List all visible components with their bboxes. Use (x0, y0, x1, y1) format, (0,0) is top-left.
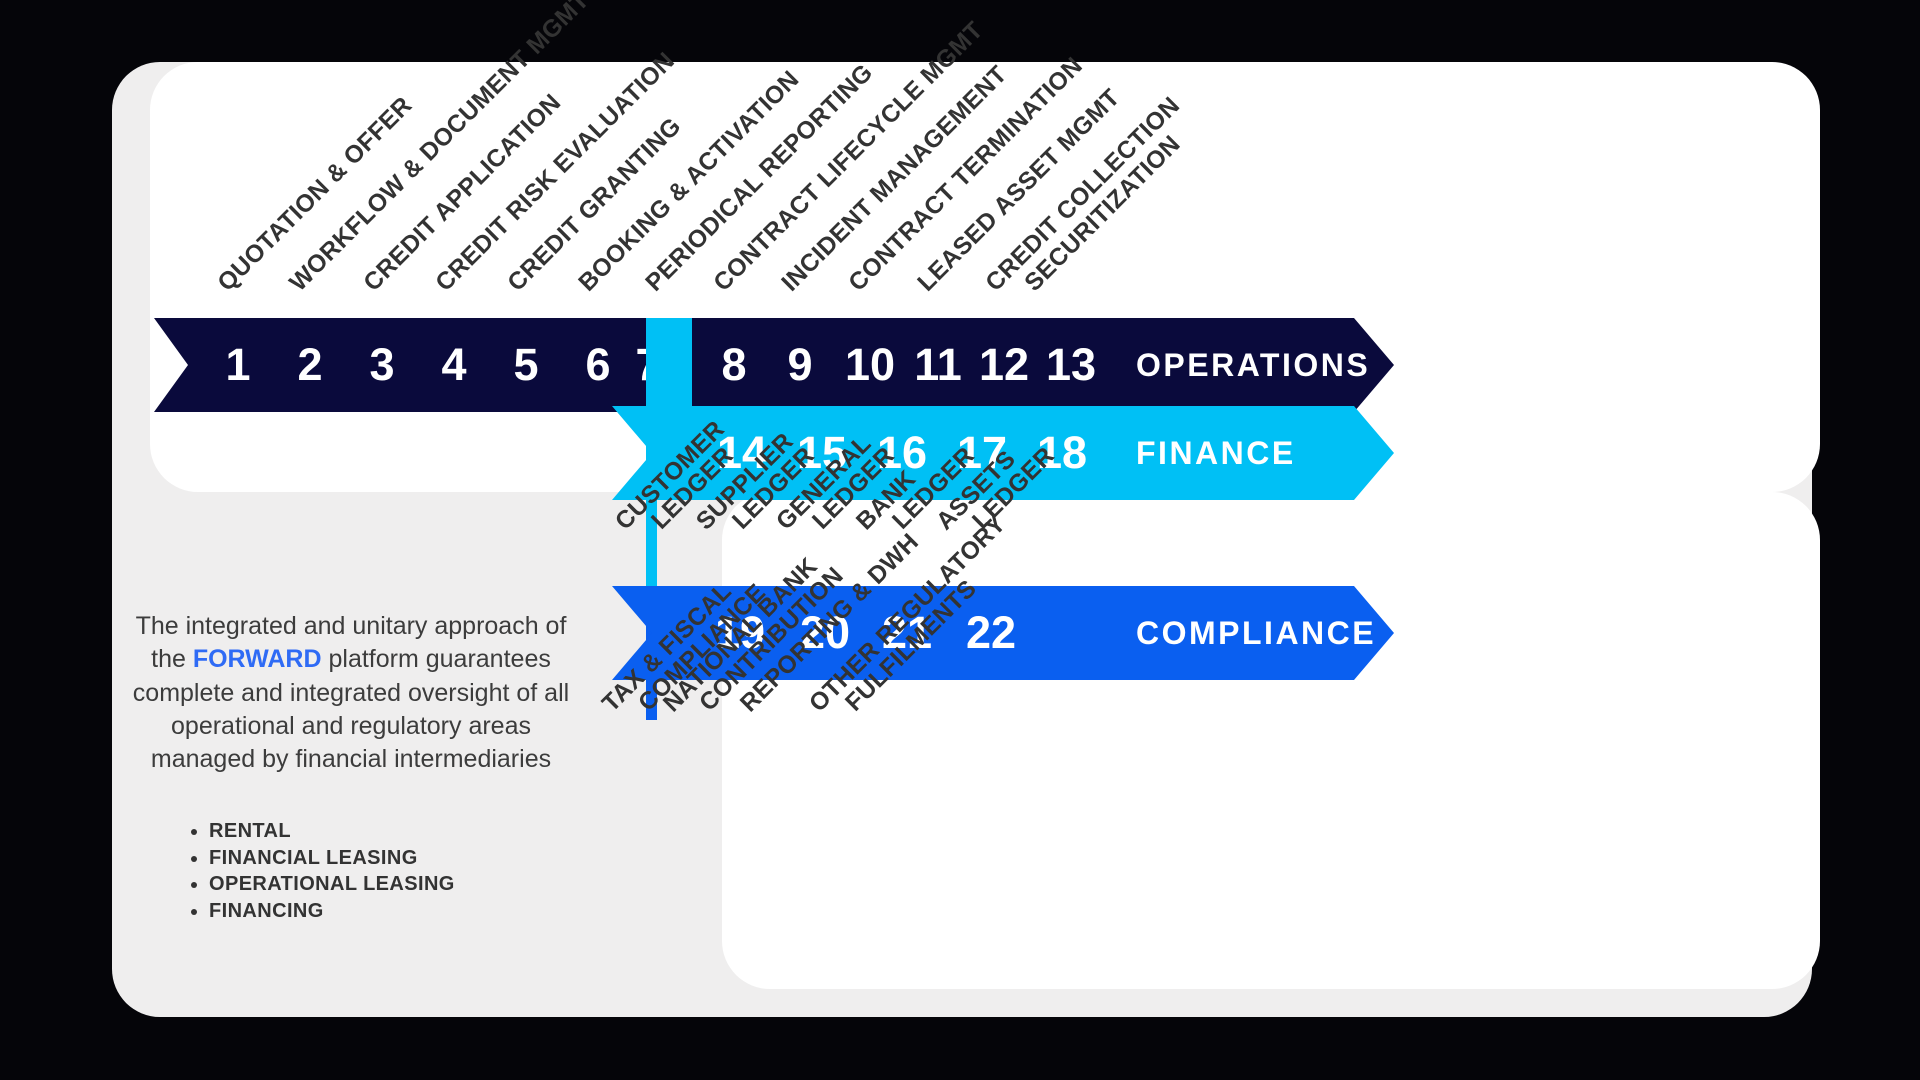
operations-title: OPERATIONS (1136, 318, 1370, 412)
band-number-4[interactable]: 4 (425, 318, 483, 412)
band-number-13[interactable]: 13 (1042, 318, 1100, 412)
product-list-item: FINANCIAL LEASING (209, 847, 605, 870)
description-text: The integrated and unitary approach of t… (128, 610, 574, 776)
product-list-item: RENTAL (209, 820, 605, 843)
band-operations[interactable]: 12345678910111213 OPERATIONS (154, 318, 1394, 412)
band-number-5[interactable]: 5 (497, 318, 555, 412)
band-number-3[interactable]: 3 (353, 318, 411, 412)
product-list: RENTALFINANCIAL LEASINGOPERATIONAL LEASI… (185, 820, 605, 926)
band-number-10[interactable]: 10 (841, 318, 899, 412)
band-number-1[interactable]: 1 (209, 318, 267, 412)
highlight-cell-7 (646, 318, 692, 412)
band-number-8[interactable]: 8 (705, 318, 763, 412)
infographic-stage: QUOTATION & OFFERWORKFLOW & DOCUMENT MGM… (0, 0, 1920, 1080)
band-number-2[interactable]: 2 (281, 318, 339, 412)
band-number-11[interactable]: 11 (909, 318, 967, 412)
band-number-12[interactable]: 12 (975, 318, 1033, 412)
product-list-item: OPERATIONAL LEASING (209, 873, 605, 896)
brand-name: FORWARD (193, 645, 322, 673)
compliance-title: COMPLIANCE (1136, 586, 1376, 680)
finance-title: FINANCE (1136, 406, 1296, 500)
band-number-9[interactable]: 9 (771, 318, 829, 412)
product-list-item: FINANCING (209, 900, 605, 923)
